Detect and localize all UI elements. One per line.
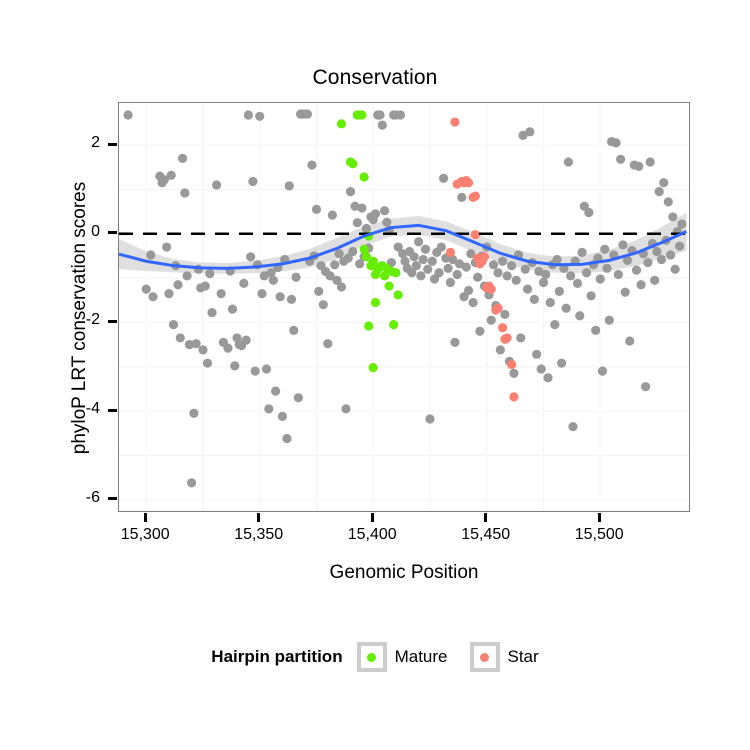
data-point bbox=[503, 333, 512, 342]
data-point bbox=[557, 359, 566, 368]
x-axis-tick-label: 15,400 bbox=[332, 526, 412, 544]
data-point bbox=[636, 280, 645, 289]
data-point bbox=[394, 290, 403, 299]
data-point bbox=[434, 268, 443, 277]
data-point bbox=[285, 181, 294, 190]
data-point bbox=[500, 310, 509, 319]
data-point bbox=[614, 270, 623, 279]
data-point bbox=[577, 248, 586, 257]
data-point bbox=[337, 282, 346, 291]
data-point bbox=[677, 219, 686, 228]
data-point bbox=[643, 258, 652, 267]
plot-canvas bbox=[119, 103, 690, 512]
data-point bbox=[475, 327, 484, 336]
data-point bbox=[314, 287, 323, 296]
data-point bbox=[498, 323, 507, 332]
data-point bbox=[346, 187, 355, 196]
scatter-series-background bbox=[123, 109, 686, 487]
data-point bbox=[489, 260, 498, 269]
data-point bbox=[450, 338, 459, 347]
data-point bbox=[552, 255, 561, 264]
data-point bbox=[169, 320, 178, 329]
data-point bbox=[187, 478, 196, 487]
data-point bbox=[543, 373, 552, 382]
data-point bbox=[439, 174, 448, 183]
data-point bbox=[446, 278, 455, 287]
data-point bbox=[207, 308, 216, 317]
legend-item-label: Mature bbox=[395, 647, 448, 667]
data-point bbox=[532, 350, 541, 359]
data-point bbox=[446, 248, 455, 257]
data-point bbox=[566, 271, 575, 280]
data-point bbox=[291, 273, 300, 282]
data-point bbox=[587, 291, 596, 300]
data-point bbox=[468, 298, 477, 307]
data-point bbox=[328, 211, 337, 220]
data-point bbox=[659, 178, 668, 187]
data-point bbox=[618, 240, 627, 249]
data-point bbox=[512, 276, 521, 285]
data-point bbox=[391, 268, 400, 277]
data-point bbox=[337, 119, 346, 128]
data-point bbox=[602, 264, 611, 273]
data-point bbox=[251, 367, 260, 376]
data-point bbox=[369, 363, 378, 372]
y-axis-tick-mark bbox=[108, 231, 117, 234]
data-point bbox=[330, 260, 339, 269]
data-point bbox=[164, 289, 173, 298]
data-point bbox=[573, 279, 582, 288]
data-point bbox=[516, 333, 525, 342]
data-point bbox=[364, 321, 373, 330]
data-point bbox=[348, 247, 357, 256]
data-point bbox=[276, 292, 285, 301]
data-point bbox=[312, 205, 321, 214]
legend-item-star[interactable]: Star bbox=[470, 642, 539, 672]
x-axis-tick-label: 15,450 bbox=[446, 526, 526, 544]
legend: Hairpin partition MatureStar bbox=[0, 642, 750, 672]
data-point bbox=[562, 304, 571, 313]
data-point bbox=[471, 230, 480, 239]
data-point bbox=[521, 265, 530, 274]
legend-title: Hairpin partition bbox=[211, 647, 342, 667]
y-axis-tick-label: 0 bbox=[60, 223, 100, 241]
data-point bbox=[287, 295, 296, 304]
data-point bbox=[294, 393, 303, 402]
data-point bbox=[269, 276, 278, 285]
data-point bbox=[414, 237, 423, 246]
data-point bbox=[262, 364, 271, 373]
data-point bbox=[419, 255, 428, 264]
legend-item-mature[interactable]: Mature bbox=[357, 642, 470, 672]
data-point bbox=[180, 188, 189, 197]
y-axis-tick-mark bbox=[108, 497, 117, 500]
data-point bbox=[457, 193, 466, 202]
y-axis-tick-mark bbox=[108, 320, 117, 323]
data-point bbox=[307, 160, 316, 169]
data-point bbox=[389, 320, 398, 329]
data-point bbox=[487, 316, 496, 325]
data-point bbox=[525, 127, 534, 136]
x-axis-tick-mark bbox=[257, 513, 260, 522]
data-point bbox=[371, 209, 380, 218]
data-point bbox=[396, 110, 405, 119]
data-point bbox=[239, 279, 248, 288]
data-point bbox=[423, 265, 432, 274]
data-point bbox=[412, 261, 421, 270]
y-axis-tick-label: -6 bbox=[60, 489, 100, 507]
data-point bbox=[282, 434, 291, 443]
data-point bbox=[244, 110, 253, 119]
x-axis-title: Genomic Position bbox=[118, 562, 690, 584]
data-point bbox=[450, 117, 459, 126]
data-point bbox=[303, 109, 312, 118]
data-point bbox=[537, 364, 546, 373]
data-point bbox=[421, 245, 430, 254]
data-point bbox=[142, 285, 151, 294]
data-point bbox=[464, 286, 473, 295]
data-point bbox=[591, 326, 600, 335]
data-point bbox=[278, 412, 287, 421]
data-point bbox=[605, 316, 614, 325]
data-point bbox=[146, 250, 155, 259]
data-point bbox=[173, 280, 182, 289]
data-point bbox=[671, 265, 680, 274]
data-point bbox=[271, 387, 280, 396]
data-point bbox=[378, 121, 387, 130]
data-point bbox=[123, 110, 132, 119]
gridlines-major bbox=[119, 103, 690, 512]
data-point bbox=[176, 333, 185, 342]
data-point bbox=[493, 304, 502, 313]
data-point bbox=[650, 276, 659, 285]
data-point bbox=[444, 264, 453, 273]
data-point bbox=[471, 191, 480, 200]
data-point bbox=[539, 278, 548, 287]
data-point bbox=[437, 242, 446, 251]
data-point bbox=[575, 311, 584, 320]
data-point bbox=[646, 157, 655, 166]
data-point bbox=[668, 212, 677, 221]
data-point bbox=[319, 300, 328, 309]
chart-title: Conservation bbox=[0, 66, 750, 90]
data-point bbox=[428, 257, 437, 266]
x-axis-tick-mark bbox=[371, 513, 374, 522]
data-point bbox=[360, 172, 369, 181]
data-point bbox=[582, 268, 591, 277]
data-point bbox=[568, 422, 577, 431]
data-point bbox=[480, 252, 489, 261]
data-point bbox=[416, 271, 425, 280]
data-point bbox=[564, 157, 573, 166]
data-point bbox=[498, 257, 507, 266]
data-point bbox=[371, 298, 380, 307]
data-point bbox=[616, 155, 625, 164]
legend-color-dot bbox=[480, 653, 489, 662]
data-point bbox=[641, 382, 650, 391]
legend-color-dot bbox=[367, 653, 376, 662]
data-point bbox=[464, 178, 473, 187]
data-point bbox=[596, 274, 605, 283]
data-point bbox=[666, 250, 675, 259]
data-point bbox=[357, 203, 366, 212]
data-point bbox=[503, 271, 512, 280]
data-point bbox=[507, 261, 516, 270]
data-point bbox=[453, 270, 462, 279]
data-point bbox=[625, 336, 634, 345]
data-point bbox=[555, 287, 564, 296]
y-axis-tick-label: -4 bbox=[60, 400, 100, 418]
data-point bbox=[462, 262, 471, 271]
data-point bbox=[228, 305, 237, 314]
x-axis-tick-label: 15,350 bbox=[219, 526, 299, 544]
data-point bbox=[348, 159, 357, 168]
data-point bbox=[353, 218, 362, 227]
data-point bbox=[257, 289, 266, 298]
data-point bbox=[509, 369, 518, 378]
data-point bbox=[248, 177, 257, 186]
data-point bbox=[487, 285, 496, 294]
data-point bbox=[264, 404, 273, 413]
conservation-chart-figure: Conservation phyloP LRT conservation sco… bbox=[0, 0, 750, 750]
data-point bbox=[198, 345, 207, 354]
data-point bbox=[242, 336, 251, 345]
data-point bbox=[178, 154, 187, 163]
data-point bbox=[205, 269, 214, 278]
data-point bbox=[621, 288, 630, 297]
data-point bbox=[496, 345, 505, 354]
data-point bbox=[148, 292, 157, 301]
data-point bbox=[357, 110, 366, 119]
x-axis-tick-label: 15,300 bbox=[105, 526, 185, 544]
data-point bbox=[375, 110, 384, 119]
x-axis-tick-mark bbox=[598, 513, 601, 522]
data-point bbox=[385, 281, 394, 290]
data-point bbox=[493, 268, 502, 277]
y-axis-tick-label: -2 bbox=[60, 311, 100, 329]
data-point bbox=[162, 242, 171, 251]
data-point bbox=[530, 295, 539, 304]
data-point bbox=[192, 339, 201, 348]
data-point bbox=[584, 208, 593, 217]
data-point bbox=[212, 180, 221, 189]
y-axis-tick-mark bbox=[108, 409, 117, 412]
data-point bbox=[611, 138, 620, 147]
data-point bbox=[509, 392, 518, 401]
data-point bbox=[217, 289, 226, 298]
data-point bbox=[675, 242, 684, 251]
data-point bbox=[289, 326, 298, 335]
data-point bbox=[600, 245, 609, 254]
x-axis-tick-label: 15,500 bbox=[559, 526, 639, 544]
data-point bbox=[655, 187, 664, 196]
x-axis-tick-mark bbox=[144, 513, 147, 522]
data-point bbox=[634, 162, 643, 171]
data-point bbox=[409, 252, 418, 261]
gridlines-minor bbox=[119, 103, 690, 512]
data-point bbox=[341, 404, 350, 413]
x-axis-tick-mark bbox=[484, 513, 487, 522]
legend-key-swatch bbox=[470, 642, 500, 672]
data-point bbox=[541, 270, 550, 279]
data-point bbox=[598, 367, 607, 376]
data-point bbox=[550, 320, 559, 329]
data-point bbox=[664, 197, 673, 206]
data-point bbox=[203, 359, 212, 368]
data-point bbox=[167, 171, 176, 180]
data-point bbox=[523, 285, 532, 294]
data-point bbox=[382, 218, 391, 227]
data-point bbox=[380, 206, 389, 215]
data-point bbox=[632, 266, 641, 275]
data-point bbox=[246, 252, 255, 261]
data-point bbox=[230, 361, 239, 370]
data-point bbox=[255, 112, 264, 121]
y-axis-tick-mark bbox=[108, 143, 117, 146]
data-point bbox=[189, 409, 198, 418]
y-axis-tick-label: 2 bbox=[60, 134, 100, 152]
data-point bbox=[201, 281, 210, 290]
data-point bbox=[223, 344, 232, 353]
data-point bbox=[652, 247, 661, 256]
data-point bbox=[182, 271, 191, 280]
plot-panel bbox=[118, 102, 690, 512]
data-point bbox=[546, 298, 555, 307]
data-point bbox=[507, 360, 516, 369]
legend-item-label: Star bbox=[508, 647, 539, 667]
data-point bbox=[425, 414, 434, 423]
legend-key-swatch bbox=[357, 642, 387, 672]
data-point bbox=[657, 255, 666, 264]
data-point bbox=[323, 339, 332, 348]
data-point bbox=[473, 273, 482, 282]
